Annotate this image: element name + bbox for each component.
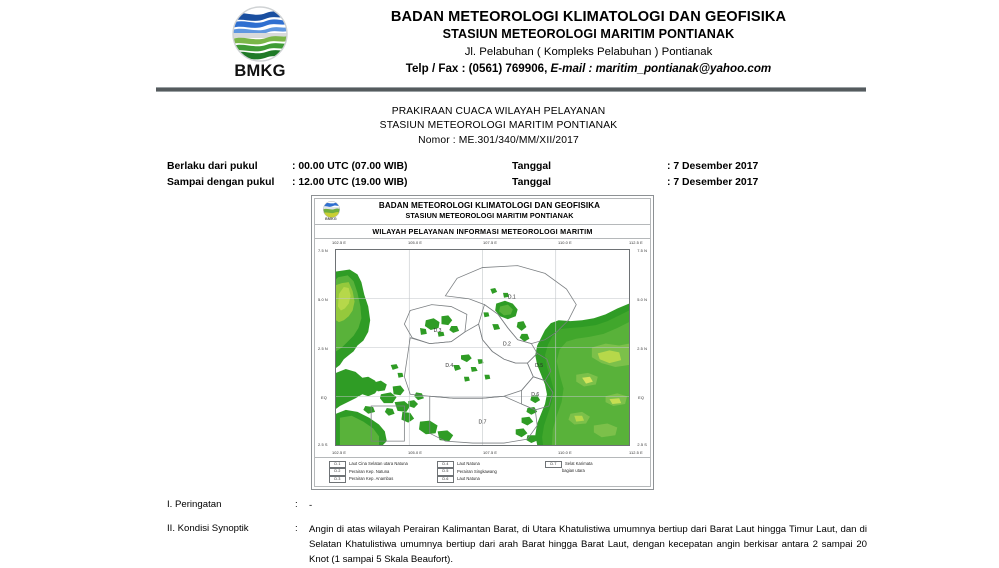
legend-code: D.5 [437, 468, 454, 476]
map-subtitle: WILAYAH PELAYANAN INFORMASI METEOROLOGI … [314, 225, 651, 240]
valid-from-label: Berlaku dari pukul [167, 159, 292, 175]
legend-item: D.2 Perairan Kep. Natuna [329, 468, 437, 476]
lat-tick-left-1: 7.5 N [318, 248, 328, 253]
email-address: E-mail : maritim_pontianak@yahoo.com [551, 62, 772, 75]
lon-tick-bottom-1: 102.5 E [332, 450, 346, 455]
lon-tick-bottom-3: 107.5 E [483, 450, 497, 455]
map-legend: D.1 Laut Cina Selatan utara Natuna D.2 P… [314, 458, 651, 487]
valid-from-date-value: : 7 Desember 2017 [667, 159, 847, 175]
map-plot-container: 102.5 E 105.0 E 107.5 E 110.0 E 112.5 E … [314, 239, 651, 458]
doc-number: Nomor : ME.301/340/MM/XII/2017 [0, 134, 997, 149]
lon-tick-top-3: 107.5 E [483, 240, 497, 245]
zone-label-d7: D.7 [479, 420, 487, 426]
note-text: - [309, 499, 867, 514]
lon-tick-top-2: 105.0 E [408, 240, 422, 245]
valid-from-value: : 00.00 UTC (07.00 WIB) [292, 159, 512, 175]
note-kondisi-synoptik: II. Kondisi Synoptik : Angin di atas wil… [167, 523, 867, 568]
legend-label: Laut Natuna [457, 476, 480, 482]
legend-label: Perairan Kep. Anambas [349, 476, 393, 482]
lat-tick-right-2: 5.0 N [637, 297, 647, 302]
zone-label-d5: D.5 [535, 363, 543, 369]
legend-code: D.4 [437, 461, 454, 469]
letterhead-text: BADAN METEOROLOGI KLIMATOLOGI DAN GEOFIS… [298, 8, 999, 78]
legend-code: D.1 [329, 461, 346, 469]
lon-tick-bottom-2: 105.0 E [408, 450, 422, 455]
map-logo-wordmark: BMKG [325, 218, 337, 222]
legend-item: D.7 Selat Karimata [545, 461, 645, 469]
validity-block: Berlaku dari pukul : 00.00 UTC (07.00 WI… [167, 159, 999, 190]
validity-row: Sampai dengan pukul : 12.00 UTC (19.00 W… [167, 175, 999, 191]
map-station-name: STASIUN METEOROLOGI MARITIM PONTIANAK [344, 211, 635, 220]
legend-item: D.4 Laut Natuna [437, 461, 545, 469]
legend-code: D.6 [437, 476, 454, 484]
map-header-titles: BADAN METEOROLOGI KLIMATOLOGI DAN GEOFIS… [344, 201, 647, 220]
zone-label-d2: D.2 [503, 342, 511, 348]
lat-tick-left-5: 2.5 S [318, 442, 328, 447]
lon-tick-top-1: 102.5 E [332, 240, 346, 245]
map-figure: BMKG BADAN METEOROLOGI KLIMATOLOGI DAN G… [311, 195, 654, 491]
legend-column-3: D.7 Selat Karimata bagian utara [545, 461, 645, 484]
bmkg-logo-icon-small [323, 201, 340, 218]
legend-code: D.2 [329, 468, 346, 476]
valid-to-value: : 12.00 UTC (19.00 WIB) [292, 175, 512, 191]
legend-label: Perairan Kep. Natuna [349, 469, 389, 475]
legend-label: Laut Natuna [457, 461, 480, 467]
valid-to-date-label: Tanggal [512, 175, 667, 191]
legend-item: D.5 Perairan Singkawang [437, 468, 545, 476]
bmkg-logo-block: BMKG [212, 6, 308, 80]
note-peringatan: I. Peringatan : - [167, 499, 867, 514]
valid-to-date-value: : 7 Desember 2017 [667, 175, 847, 191]
note-label: II. Kondisi Synoptik [167, 523, 295, 568]
map-canvas: D.1 D.2 D.3 D.4 D.5 D.6 D.7 [335, 249, 630, 446]
note-colon: : [295, 499, 309, 514]
valid-from-date-label: Tanggal [512, 159, 667, 175]
letterhead: BMKG BADAN METEOROLOGI KLIMATOLOGI DAN G… [0, 0, 999, 80]
map-logo-block: BMKG [318, 201, 344, 222]
legend-item: D.6 Laut Natuna [437, 476, 545, 484]
lon-tick-top-4: 110.0 E [558, 240, 572, 245]
legend-column-2: D.4 Laut Natuna D.5 Perairan Singkawang … [437, 461, 545, 484]
legend-item: D.3 Perairan Kep. Anambas [329, 476, 437, 484]
lat-tick-right-1: 7.5 N [637, 248, 647, 253]
legend-label-continuation: bagian utara [562, 468, 645, 474]
contact-line: Telp / Fax : (0561) 769906, E-mail : mar… [298, 61, 879, 78]
map-plot: 102.5 E 105.0 E 107.5 E 110.0 E 112.5 E … [317, 240, 648, 455]
lat-tick-right-3: 2.5 N [637, 346, 647, 351]
zone-label-d4: D.4 [445, 363, 453, 369]
legend-code: D.7 [545, 461, 562, 469]
bmkg-wordmark: BMKG [234, 63, 285, 80]
lon-tick-bottom-5: 112.5 E [629, 450, 643, 455]
zone-label-d3: D.3 [434, 328, 442, 334]
note-label: I. Peringatan [167, 499, 295, 514]
lon-tick-top-5: 112.5 E [629, 240, 643, 245]
lon-tick-bottom-4: 110.0 E [558, 450, 572, 455]
zone-label-d1: D.1 [508, 295, 516, 301]
bmkg-logo-icon [232, 6, 288, 62]
legend-item: D.1 Laut Cina Selatan utara Natuna [329, 461, 437, 469]
station-name: STASIUN METEOROLOGI MARITIM PONTIANAK [298, 26, 879, 43]
doc-title-line-2: STASIUN METEOROLOGI MARITIM PONTIANAK [0, 119, 997, 134]
phone-fax: Telp / Fax : (0561) 769906, [406, 62, 551, 75]
legend-label: Selat Karimata [565, 461, 593, 467]
agency-name: BADAN METEOROLOGI KLIMATOLOGI DAN GEOFIS… [298, 8, 879, 26]
notes-section: I. Peringatan : - II. Kondisi Synoptik :… [167, 499, 867, 567]
legend-column-1: D.1 Laut Cina Selatan utara Natuna D.2 P… [329, 461, 437, 484]
lat-tick-left-3: 2.5 N [318, 346, 328, 351]
legend-label: Laut Cina Selatan utara Natuna [349, 461, 408, 467]
note-colon: : [295, 523, 309, 568]
map-agency-name: BADAN METEOROLOGI KLIMATOLOGI DAN GEOFIS… [344, 201, 635, 211]
legend-code: D.3 [329, 476, 346, 484]
zone-label-d6: D.6 [531, 392, 539, 398]
validity-row: Berlaku dari pukul : 00.00 UTC (07.00 WI… [167, 159, 999, 175]
address-line: Jl. Pelabuhan ( Kompleks Pelabuhan ) Pon… [298, 44, 879, 61]
map-header: BMKG BADAN METEOROLOGI KLIMATOLOGI DAN G… [314, 198, 651, 225]
legend-label: Perairan Singkawang [457, 469, 497, 475]
lat-tick-left-2: 5.0 N [318, 297, 328, 302]
note-text: Angin di atas wilayah Perairan Kalimanta… [309, 523, 867, 568]
lat-tick-left-4: EQ [321, 395, 327, 400]
header-divider [156, 87, 866, 92]
lat-tick-right-4: EQ [638, 395, 644, 400]
document-title: PRAKIRAAN CUACA WILAYAH PELAYANAN STASIU… [0, 105, 999, 149]
valid-to-label: Sampai dengan pukul [167, 175, 292, 191]
doc-title-line-1: PRAKIRAAN CUACA WILAYAH PELAYANAN [0, 105, 997, 120]
lat-tick-right-5: 2.5 S [637, 442, 647, 447]
